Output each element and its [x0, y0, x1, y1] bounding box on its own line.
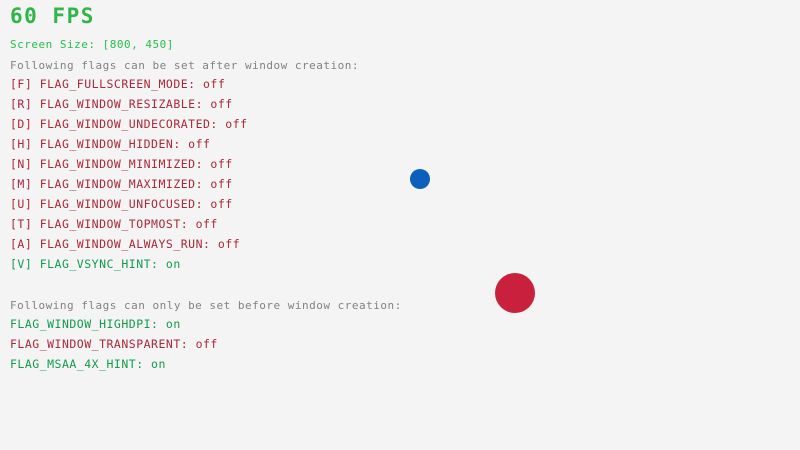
flag-row-flag-window-minimized[interactable]: [N] FLAG_WINDOW_MINIMIZED: off [10, 159, 233, 171]
red-ball [495, 273, 535, 313]
flag-row-flag-fullscreen-mode[interactable]: [F] FLAG_FULLSCREEN_MODE: off [10, 79, 225, 91]
flag-row-flag-window-maximized[interactable]: [M] FLAG_WINDOW_MAXIMIZED: off [10, 179, 233, 191]
flag-row-flag-window-resizable[interactable]: [R] FLAG_WINDOW_RESIZABLE: off [10, 99, 233, 111]
flag-row-flag-window-always-run[interactable]: [A] FLAG_WINDOW_ALWAYS_RUN: off [10, 239, 240, 251]
flag-row-flag-window-unfocused[interactable]: [U] FLAG_WINDOW_UNFOCUSED: off [10, 199, 233, 211]
flag-row-flag-window-transparent[interactable]: FLAG_WINDOW_TRANSPARENT: off [10, 339, 218, 351]
flag-row-flag-window-topmost[interactable]: [T] FLAG_WINDOW_TOPMOST: off [10, 219, 218, 231]
screen-size-label: Screen Size: [800, 450] [10, 39, 174, 50]
runtime-flags-header: Following flags can be set after window … [10, 60, 359, 71]
flag-row-flag-window-hidden[interactable]: [H] FLAG_WINDOW_HIDDEN: off [10, 139, 210, 151]
flag-row-flag-window-highdpi[interactable]: FLAG_WINDOW_HIGHDPI: on [10, 319, 181, 331]
raylib-window-canvas: 60 FPS Screen Size: [800, 450] Following… [0, 0, 800, 450]
flag-row-flag-window-undecorated[interactable]: [D] FLAG_WINDOW_UNDECORATED: off [10, 119, 248, 131]
creation-flags-header: Following flags can only be set before w… [10, 300, 402, 311]
blue-ball [410, 169, 430, 189]
flag-row-flag-msaa-4x-hint[interactable]: FLAG_MSAA_4X_HINT: on [10, 359, 166, 371]
flag-row-flag-vsync-hint[interactable]: [V] FLAG_VSYNC_HINT: on [10, 259, 181, 271]
fps-counter: 60 FPS [10, 6, 95, 27]
